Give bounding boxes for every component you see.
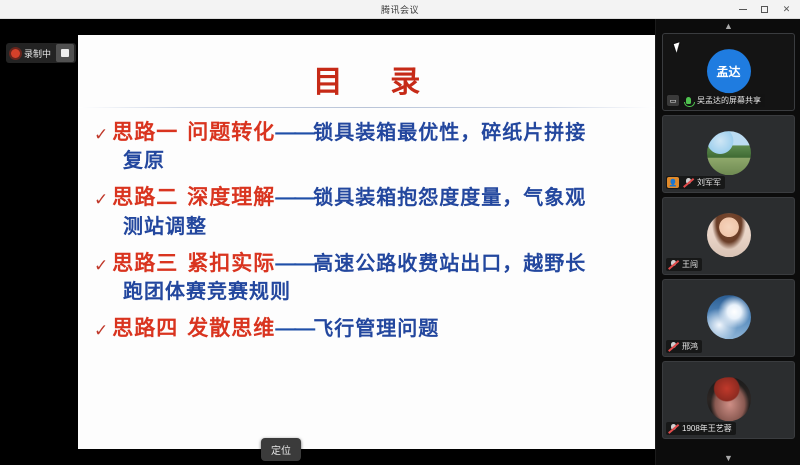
locate-button[interactable]: 定位 xyxy=(261,438,301,461)
toc-item-2-body-cont: 测站调整 xyxy=(94,214,641,240)
participant-tile-2[interactable]: 王闯 xyxy=(662,197,795,275)
toc-item-3-dash: —— xyxy=(275,252,313,275)
toc-item-2-heading: 思路二 xyxy=(112,185,178,209)
toc-item-4-body: 飞行管理问题 xyxy=(313,318,439,340)
slide-title: 目 录 xyxy=(78,57,655,101)
toc-item-3: ✓思路三紧扣实际——高速公路收费站出口，越野长 跑团体赛竞赛规则 xyxy=(94,250,641,305)
participant-label: ▭ 吴孟达的屏幕共享 xyxy=(666,94,765,107)
check-icon: ✓ xyxy=(94,321,108,340)
avatar xyxy=(707,213,751,257)
check-icon: ✓ xyxy=(94,125,108,144)
slide-toc-list: ✓思路一问题转化——锁具装箱最优性，碎纸片拼接 复原 ✓思路二深度理解——锁具装… xyxy=(78,119,655,352)
minimize-icon[interactable] xyxy=(737,4,748,15)
window-controls: ✕ xyxy=(737,0,796,19)
record-dot-icon xyxy=(11,49,20,58)
toc-item-3-body-cont: 跑团体赛竞赛规则 xyxy=(94,279,641,305)
avatar xyxy=(707,295,751,339)
check-icon: ✓ xyxy=(94,190,108,209)
toc-item-1-body: 锁具装箱最优性，碎纸片拼接 xyxy=(313,122,586,144)
participant-tiles: 孟达 ▭ 吴孟达的屏幕共享 👤 刘军军 xyxy=(656,33,800,451)
title-divider xyxy=(78,107,655,108)
mic-on-icon xyxy=(682,95,694,106)
mic-muted-icon xyxy=(667,341,679,352)
participant-tile-0[interactable]: 孟达 ▭ 吴孟达的屏幕共享 xyxy=(662,33,795,111)
stop-recording-button[interactable] xyxy=(56,44,74,62)
toc-item-3-subheading: 紧扣实际 xyxy=(187,251,275,275)
toc-item-2-body: 锁具装箱抱怨度度量，气象观 xyxy=(313,187,586,209)
recording-status-label: 录制中 xyxy=(24,47,51,60)
participant-name: 邢鸿 xyxy=(682,341,698,352)
maximize-icon[interactable] xyxy=(759,4,770,15)
participant-name: 1908年王艺蓉 xyxy=(682,423,732,434)
presentation-slide: 目 录 ✓思路一问题转化——锁具装箱最优性，碎纸片拼接 复原 ✓思路二深度理解—… xyxy=(78,35,655,449)
scroll-up-icon[interactable]: ▲ xyxy=(656,19,800,33)
toc-item-1-body-cont: 复原 xyxy=(94,148,641,174)
toc-item-4-dash: —— xyxy=(275,317,313,340)
mouse-cursor-icon xyxy=(674,42,682,52)
participant-tile-3[interactable]: 邢鸿 xyxy=(662,279,795,357)
toc-item-1-subheading: 问题转化 xyxy=(187,120,275,144)
recording-indicator[interactable]: 录制中 xyxy=(6,43,76,63)
participant-label: 王闯 xyxy=(666,258,702,271)
avatar xyxy=(707,377,751,421)
mic-muted-icon xyxy=(667,259,679,270)
mic-muted-icon xyxy=(682,177,694,188)
toc-item-1-heading: 思路一 xyxy=(112,120,178,144)
screen-share-icon: ▭ xyxy=(667,95,679,106)
participant-rail: ▲ 孟达 ▭ 吴孟达的屏幕共享 👤 刘军军 xyxy=(655,19,800,465)
toc-item-1-dash: —— xyxy=(275,121,313,144)
participant-tile-4[interactable]: 1908年王艺蓉 xyxy=(662,361,795,439)
scroll-down-icon[interactable]: ▼ xyxy=(656,451,800,465)
participant-name: 刘军军 xyxy=(697,177,721,188)
check-icon: ✓ xyxy=(94,256,108,275)
toc-item-4: ✓思路四发散思维——飞行管理问题 xyxy=(94,315,641,342)
window-title-bar: 腾讯会议 ✕ xyxy=(0,0,800,19)
toc-item-3-body: 高速公路收费站出口，越野长 xyxy=(313,253,586,275)
participant-tile-1[interactable]: 👤 刘军军 xyxy=(662,115,795,193)
toc-item-4-heading: 思路四 xyxy=(112,316,178,340)
participant-label: 1908年王艺蓉 xyxy=(666,422,736,435)
participant-label: 👤 刘军军 xyxy=(666,176,725,189)
participant-label: 邢鸿 xyxy=(666,340,702,353)
avatar xyxy=(707,131,751,175)
toc-item-1: ✓思路一问题转化——锁具装箱最优性，碎纸片拼接 复原 xyxy=(94,119,641,174)
toc-item-2: ✓思路二深度理解——锁具装箱抱怨度度量，气象观 测站调整 xyxy=(94,184,641,239)
mic-muted-icon xyxy=(667,423,679,434)
participant-name: 吴孟达的屏幕共享 xyxy=(697,95,761,106)
close-icon[interactable]: ✕ xyxy=(781,4,792,15)
host-badge-icon: 👤 xyxy=(667,177,679,188)
toc-item-4-subheading: 发散思维 xyxy=(187,316,275,340)
avatar: 孟达 xyxy=(707,49,751,93)
shared-screen-stage: 目 录 ✓思路一问题转化——锁具装箱最优性，碎纸片拼接 复原 ✓思路二深度理解—… xyxy=(0,19,655,465)
toc-item-3-heading: 思路三 xyxy=(112,251,178,275)
window-title: 腾讯会议 xyxy=(381,3,419,16)
participant-name: 王闯 xyxy=(682,259,698,270)
toc-item-2-subheading: 深度理解 xyxy=(187,185,275,209)
toc-item-2-dash: —— xyxy=(275,186,313,209)
stop-square-icon xyxy=(61,49,69,57)
tencent-meeting-window: 腾讯会议 ✕ 目 录 ✓思路一问题转化——锁具装箱最优性，碎纸片拼接 复原 ✓思… xyxy=(0,0,800,465)
